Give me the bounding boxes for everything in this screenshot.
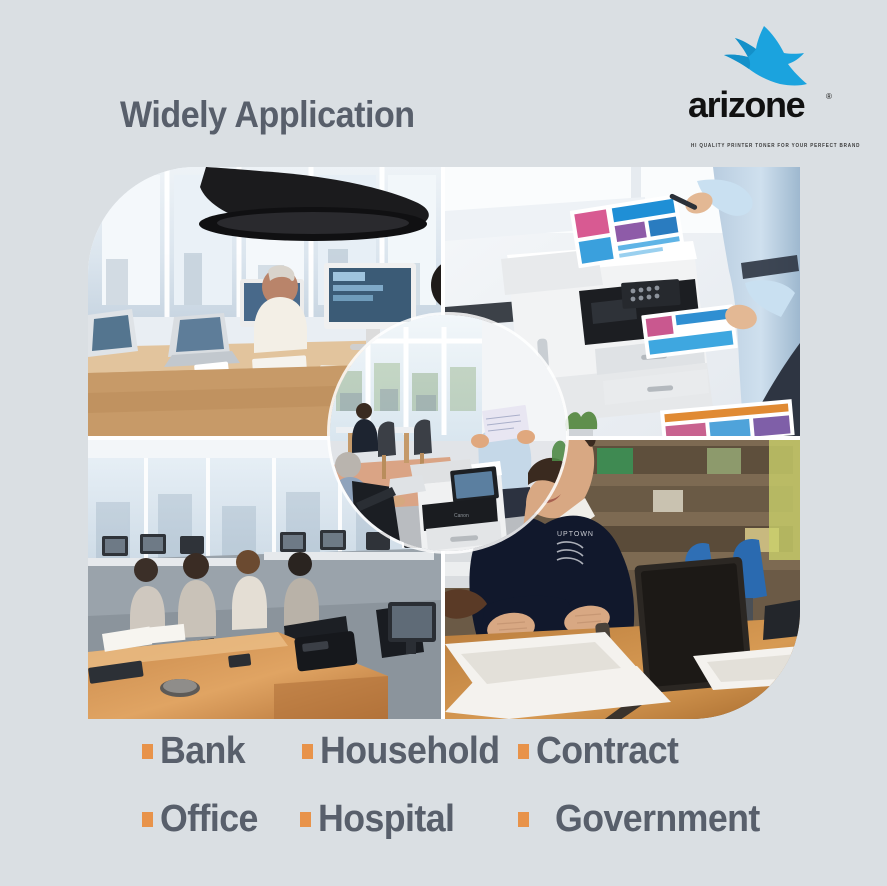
bullet-square-icon bbox=[142, 812, 153, 827]
bullet-square-icon bbox=[518, 744, 529, 759]
brand-tagline: HI QUALITY PRINTER TONER FOR YOUR PERFEC… bbox=[691, 142, 860, 148]
keyword-household[interactable]: Household bbox=[302, 730, 511, 773]
keyword-contract[interactable]: Contract bbox=[518, 730, 687, 773]
keyword-label: Contract bbox=[536, 730, 678, 773]
bullet-square-icon bbox=[300, 812, 311, 827]
keyword-office[interactable]: Office bbox=[142, 798, 264, 841]
application-keyword-list: Bank Household Contract Office Hospital … bbox=[0, 726, 887, 866]
page-title: Widely Application bbox=[120, 94, 415, 136]
keyword-label: Office bbox=[160, 798, 258, 841]
keyword-label: Government bbox=[555, 798, 760, 841]
keyword-label: Hospital bbox=[318, 798, 454, 841]
bullet-square-icon bbox=[302, 744, 313, 759]
bullet-square-icon bbox=[142, 744, 153, 759]
keyword-label: Bank bbox=[160, 730, 245, 773]
brand-logo: arizone ® HI QUALITY PRINTER TONER FOR Y… bbox=[688, 24, 848, 136]
photo-center-circle: Canon bbox=[330, 315, 566, 551]
poster-canvas: Widely Application arizone ® HI QUALITY … bbox=[0, 0, 887, 886]
keyword-hospital[interactable]: Hospital bbox=[300, 798, 463, 841]
keyword-label: Household bbox=[320, 730, 499, 773]
keyword-government[interactable]: Government bbox=[518, 798, 773, 841]
bullet-square-icon bbox=[518, 812, 529, 827]
svg-text:arizone: arizone bbox=[688, 86, 805, 125]
svg-text:UPTOWN: UPTOWN bbox=[557, 531, 594, 538]
bird-logo-icon bbox=[716, 24, 808, 90]
keyword-bank[interactable]: Bank bbox=[142, 730, 251, 773]
svg-text:®: ® bbox=[826, 92, 832, 101]
svg-text:Canon: Canon bbox=[454, 513, 469, 519]
brand-wordmark: arizone ® bbox=[688, 86, 840, 126]
photo-collage: brother bbox=[88, 167, 800, 719]
